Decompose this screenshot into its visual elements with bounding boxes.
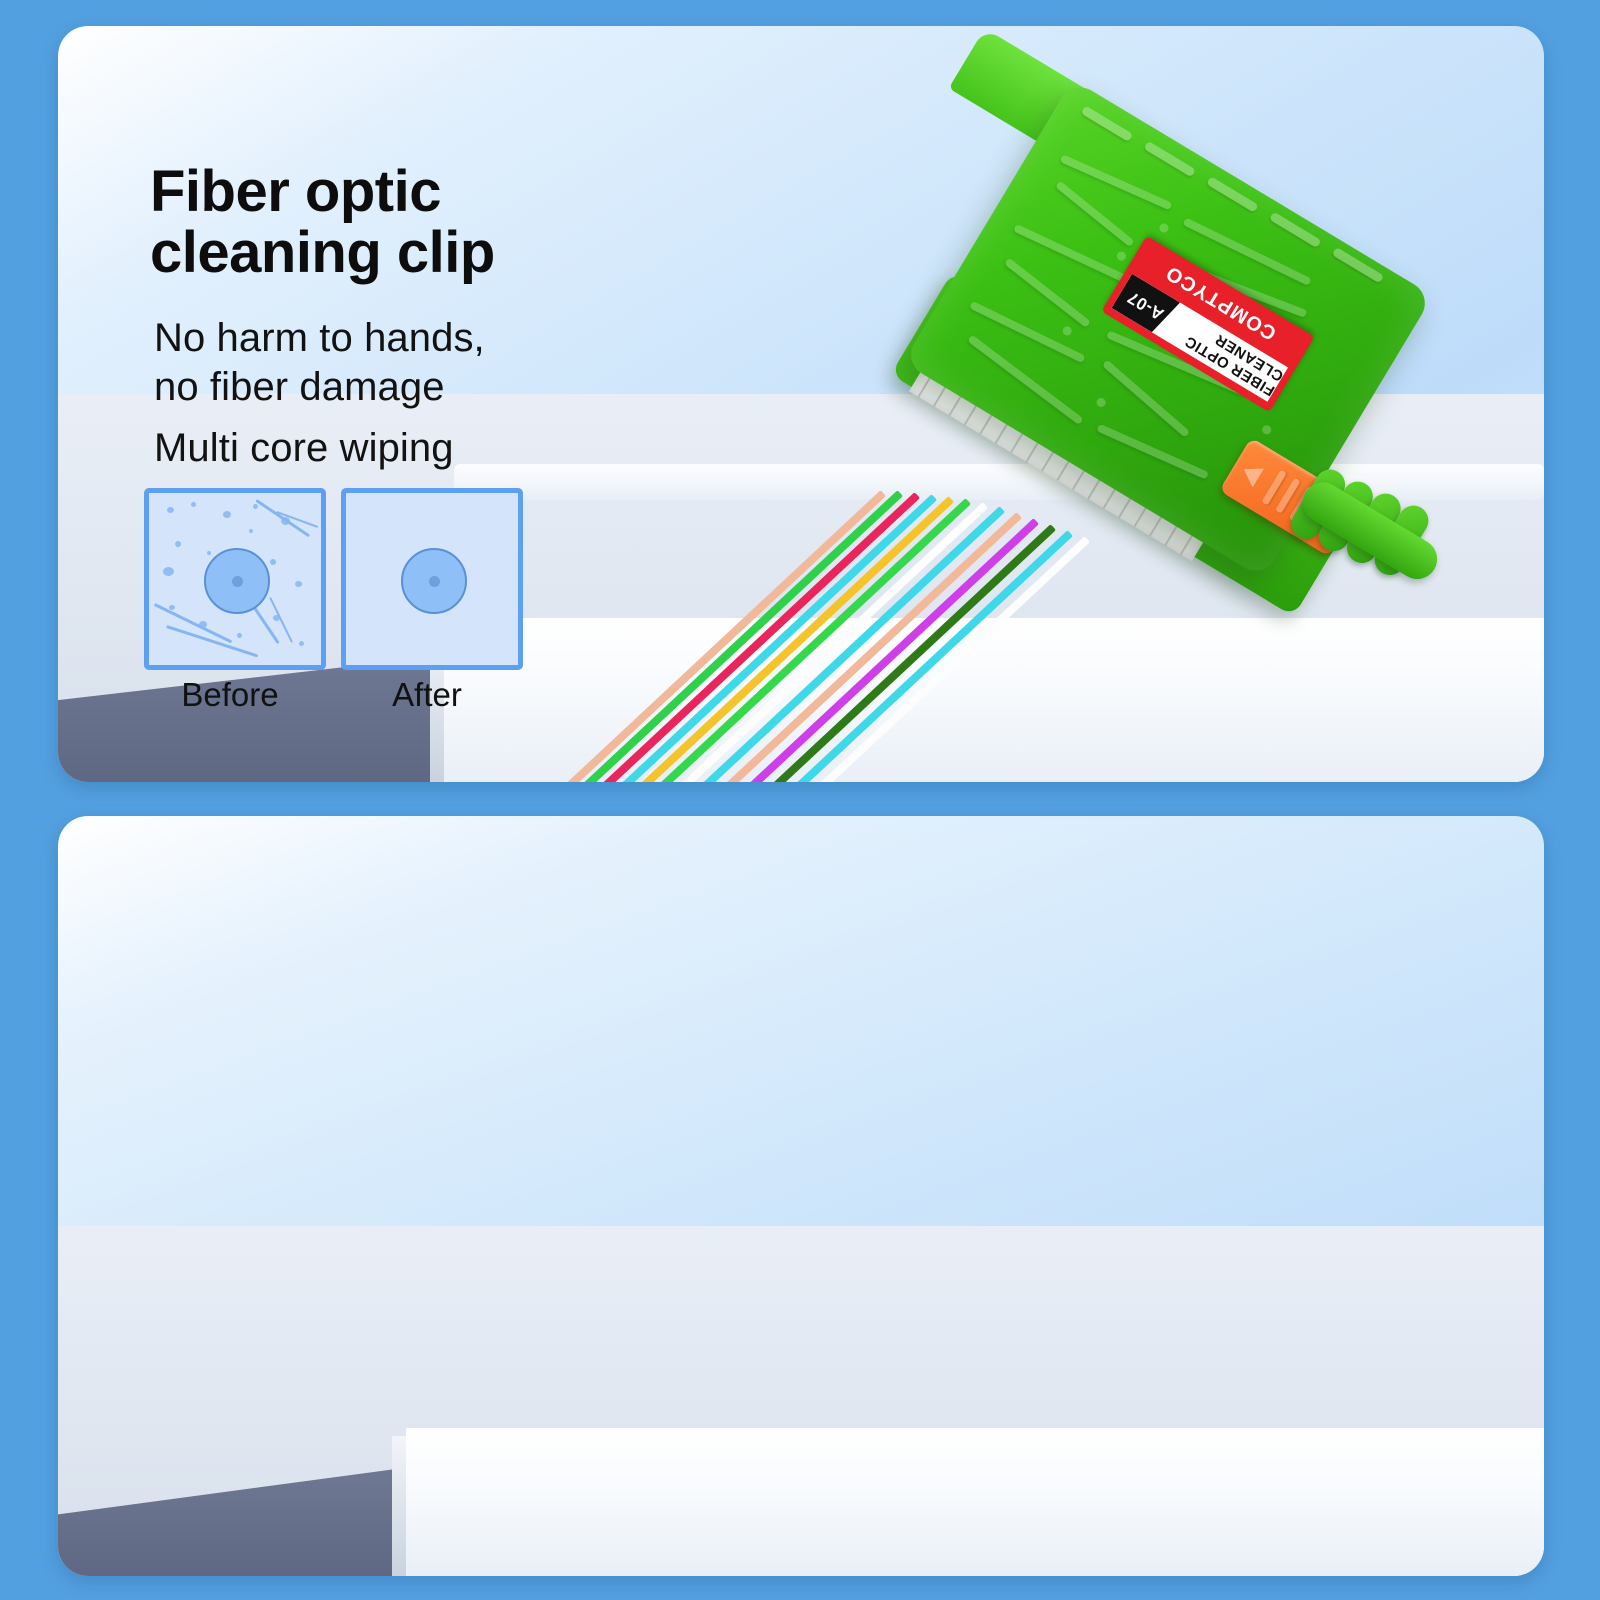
counter-top-surface-2 [406,1428,1544,1576]
fiber-optic-cleaner-device: FIBER OPTIC CLEANER A-07 COMPTYCO [848,84,1508,734]
panel-product-accessories: Product accessories Replace core, cotton… [58,816,1544,1576]
arrow-left-icon [1238,460,1264,488]
scene-surface-bottom [58,816,1544,1576]
label-model-text: A-07 [1124,287,1168,324]
product-infographic: Fiber optic cleaning clip No harm to han… [0,0,1600,1600]
panel-fiber-optic-cleaning-clip: Fiber optic cleaning clip No harm to han… [58,26,1544,782]
